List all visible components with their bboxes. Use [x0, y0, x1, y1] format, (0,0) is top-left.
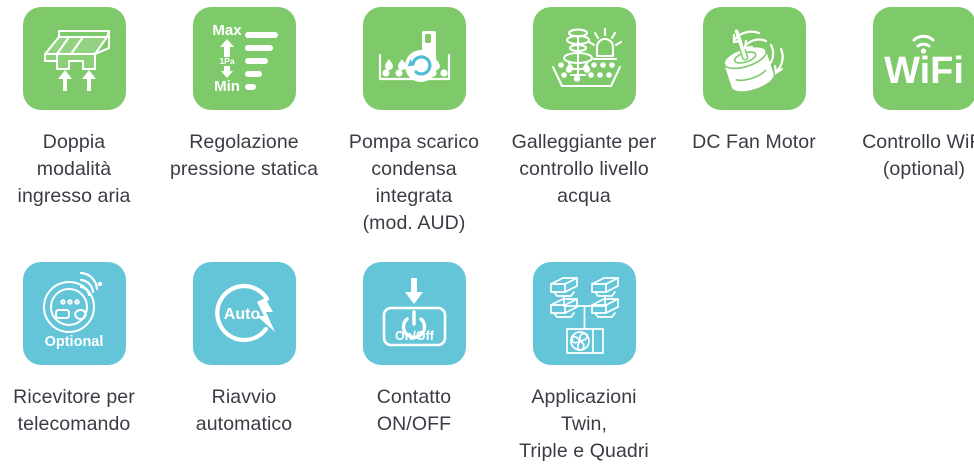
dual-air-inlet-icon: [23, 7, 126, 110]
wifi-text: WiFi: [884, 50, 964, 92]
feature-label: Contatto ON/OFF: [329, 384, 499, 438]
feature-label: Controllo WiFi (optional): [829, 129, 974, 183]
remote-receiver-icon: Optional: [23, 262, 126, 365]
feature-label: Riavvio automatico: [159, 384, 329, 438]
dc-fan-motor-tile: [703, 7, 806, 110]
feature-label: Doppia modalità ingresso aria: [0, 129, 159, 210]
feature-item-dc-fan-motor[interactable]: DC Fan Motor: [669, 7, 839, 156]
feature-item-twin-triple-quadri[interactable]: Applicazioni Twin, Triple e Quadri: [499, 262, 669, 465]
dual-air-inlet-tile: [23, 7, 126, 110]
feature-item-auto-restart[interactable]: Auto Riavvio automatico: [159, 262, 329, 438]
feature-item-on-off-contact[interactable]: On/Off Contatto ON/OFF: [329, 262, 499, 438]
static-pressure-max-text: Max: [212, 22, 242, 39]
feature-label: Regolazione pressione statica: [159, 129, 329, 183]
float-water-level-icon: [533, 7, 636, 110]
dc-fan-motor-icon: [703, 7, 806, 110]
feature-item-dual-air-inlet[interactable]: Doppia modalità ingresso aria: [0, 7, 159, 210]
feature-label: Pompa scarico condensa integrata (mod. A…: [329, 129, 499, 237]
feature-label: DC Fan Motor: [669, 129, 839, 156]
on-off-contact-icon: On/Off: [363, 262, 466, 365]
static-pressure-min-text: Min: [214, 78, 240, 95]
wifi-icon: WiFi: [873, 7, 974, 110]
twin-triple-quadri-tile: [533, 262, 636, 365]
on-off-contact-tile: On/Off: [363, 262, 466, 365]
auto-restart-tile: Auto: [193, 262, 296, 365]
feature-label: Ricevitore per telecomando: [0, 384, 159, 438]
feature-item-remote-receiver[interactable]: Optional Ricevitore per telecomando: [0, 262, 159, 438]
on-off-text: On/Off: [395, 329, 435, 343]
static-pressure-tile: Max Min 1Pa: [193, 7, 296, 110]
feature-grid: Doppia modalità ingresso aria Max Min 1P…: [0, 0, 974, 466]
twin-triple-quadri-icon: [533, 262, 636, 365]
auto-restart-icon: Auto: [193, 262, 296, 365]
feature-item-condensate-pump[interactable]: Pompa scarico condensa integrata (mod. A…: [329, 7, 499, 237]
condensate-pump-tile: [363, 7, 466, 110]
feature-item-float-water-level[interactable]: Galleggiante per controllo livello acqua: [499, 7, 669, 210]
auto-text: Auto: [223, 306, 260, 323]
feature-item-static-pressure[interactable]: Max Min 1Pa Regolazione pressione static…: [159, 7, 329, 183]
static-pressure-icon: Max Min 1Pa: [193, 7, 296, 110]
condensate-pump-icon: [363, 7, 466, 110]
feature-label: Applicazioni Twin, Triple e Quadri: [499, 384, 669, 465]
wifi-control-tile: WiFi: [873, 7, 974, 110]
float-water-level-tile: [533, 7, 636, 110]
feature-item-wifi-control[interactable]: WiFi Controllo WiFi (optional): [839, 7, 974, 183]
feature-label: Galleggiante per controllo livello acqua: [499, 129, 669, 210]
static-pressure-unit-text: 1Pa: [219, 56, 234, 66]
optional-text: Optional: [44, 334, 103, 350]
remote-receiver-tile: Optional: [23, 262, 126, 365]
